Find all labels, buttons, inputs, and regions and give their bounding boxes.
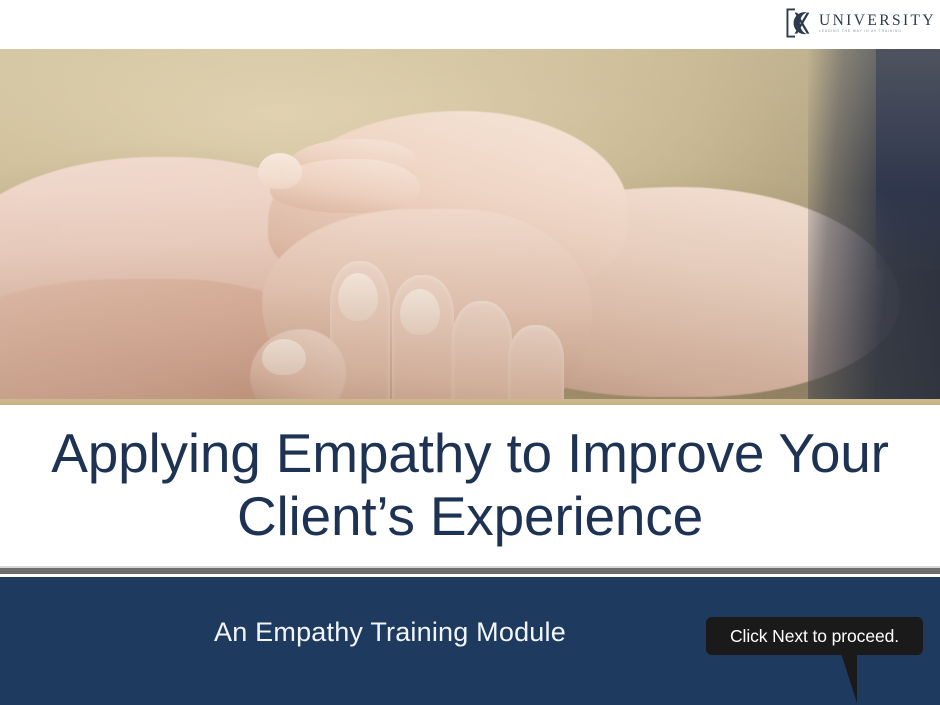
page-title-line2: Client’s Experience <box>0 485 940 548</box>
hero-color-tone-overlay <box>0 49 940 405</box>
slide-header: UNIVERSITY LEADING THE WAY IN AV TRAININ… <box>0 0 940 49</box>
page-title: Applying Empathy to Improve Your Client’… <box>0 422 940 547</box>
callout-body: Click Next to proceed. <box>706 617 923 655</box>
logo-tagline: LEADING THE WAY IN AV TRAINING <box>819 30 936 33</box>
cx-monogram-icon <box>782 5 818 41</box>
logo-wordmark: UNIVERSITY LEADING THE WAY IN AV TRAININ… <box>819 13 936 34</box>
callout-text: Click Next to proceed. <box>730 626 899 647</box>
callout-tail-icon <box>839 647 857 703</box>
logo-word: UNIVERSITY <box>819 13 936 29</box>
next-instruction-callout: Click Next to proceed. <box>706 617 923 655</box>
page-title-line1: Applying Empathy to Improve Your <box>0 422 940 485</box>
hero-image <box>0 49 940 405</box>
slide-canvas: UNIVERSITY LEADING THE WAY IN AV TRAININ… <box>0 0 940 705</box>
title-area: Applying Empathy to Improve Your Client’… <box>0 405 940 568</box>
cx-university-logo: UNIVERSITY LEADING THE WAY IN AV TRAININ… <box>782 3 936 43</box>
